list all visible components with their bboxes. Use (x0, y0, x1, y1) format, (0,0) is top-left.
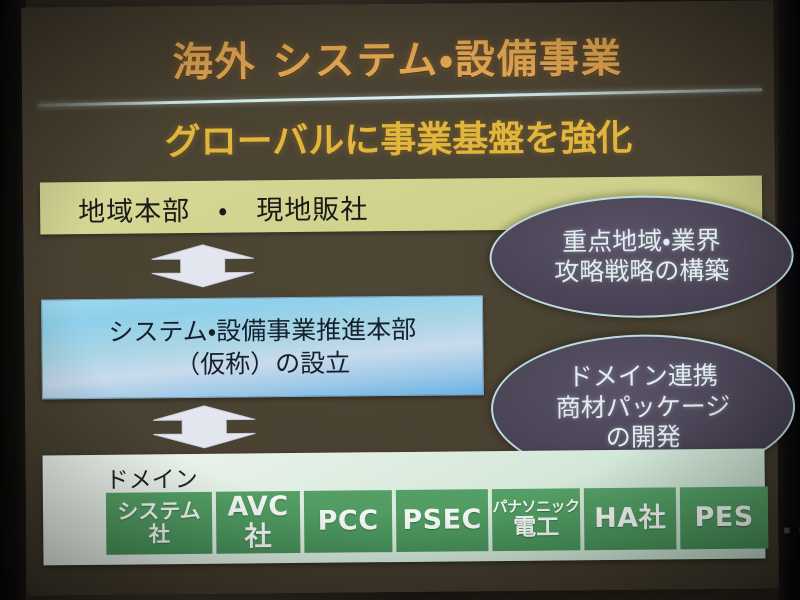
domain-cell[interactable]: PES (680, 486, 769, 549)
domain-cell[interactable]: PCC (304, 490, 393, 553)
domain-cell-line-2: 社 (244, 522, 272, 552)
domain-panel-title: ドメイン (106, 460, 198, 495)
region-headquarters-label: 地域本部 ・ 現地販社 (78, 187, 369, 229)
domain-cell-line-1: PES (694, 503, 753, 533)
projected-slide-photo: 海外 システム・設備事業 グローバルに事業基盤を強化 地域本部 ・ 現地販社 シ… (0, 0, 800, 600)
presentation-slide: 海外 システム・設備事業 グローバルに事業基盤を強化 地域本部 ・ 現地販社 シ… (21, 0, 779, 595)
hq-box-line-1: システム・設備事業推進本部 (108, 313, 416, 349)
domain-company-row: システム社AVC社PCCPSECパナソニック電工HA社PES... (106, 486, 800, 555)
slide-title: 海外 システム・設備事業 (21, 24, 774, 89)
domain-cell-line-1: パナソニック (492, 498, 579, 515)
domain-cell[interactable]: HA社 (584, 487, 677, 550)
domain-cell-line-2: 社 (149, 523, 170, 546)
domain-cell-line-1: AVC (227, 492, 289, 522)
domain-ellipsis: ... (772, 486, 800, 549)
double-headed-arrow-icon-bottom (152, 404, 256, 449)
headquarters-establishment-box: システム・設備事業推進本部 （仮称）の設立 (41, 295, 484, 399)
domain-cell[interactable]: AVC社 (216, 491, 301, 554)
domain-cell[interactable]: PSEC (396, 489, 489, 552)
domain-cell[interactable]: パナソニック電工 (492, 488, 581, 551)
domain-cell-line-1: システム (117, 500, 201, 524)
callout-1-line-1: 重点地域・業界 (562, 225, 721, 257)
callout-1-line-2: 攻略戦略の構築 (554, 256, 729, 288)
domain-cell[interactable]: システム社 (106, 492, 213, 555)
domain-cell-line-1: HA社 (594, 504, 666, 534)
domain-cell-line-1: PSEC (402, 505, 482, 535)
domain-cell-line-1: PCC (318, 506, 379, 536)
callout-ellipse-strategy: 重点地域・業界 攻略戦略の構築 (489, 194, 794, 319)
slide-subtitle: グローバルに事業基盤を強化 (22, 107, 774, 166)
domain-cell-line-2: 電工 (513, 515, 559, 541)
callout-2-line-1: ドメイン連携 (568, 361, 718, 393)
double-headed-arrow-icon-top (150, 243, 254, 288)
callout-2-line-2: 商材パッケージ (556, 392, 731, 424)
domain-panel: ドメイン システム社AVC社PCCPSECパナソニック電工HA社PES... (42, 449, 765, 566)
title-divider-rule (38, 88, 762, 107)
hq-box-line-2: （仮称）の設立 (175, 346, 350, 381)
